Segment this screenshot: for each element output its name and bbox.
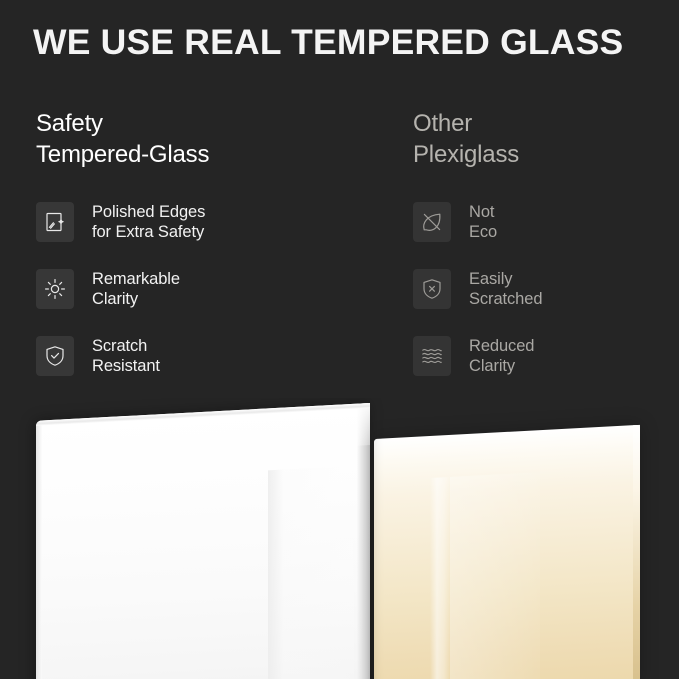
- feature-text: Reduced Clarity: [469, 336, 534, 377]
- feature-row: Easily Scratched: [413, 266, 679, 312]
- plexiglass-right-edge: [633, 425, 640, 679]
- wavy-lines-blur-icon: [413, 336, 451, 376]
- feature-line2: for Extra Safety: [92, 222, 205, 243]
- shield-check-icon: [36, 336, 74, 376]
- feature-text: Scratch Resistant: [92, 336, 160, 377]
- column-plexiglass: Other Plexiglass Not Eco: [413, 108, 679, 379]
- product-comparison-graphic: WE USE REAL TEMPERED GLASS Safety Temper…: [0, 0, 679, 679]
- sun-clarity-icon: [36, 269, 74, 309]
- feature-line2: Clarity: [469, 356, 534, 377]
- plexiglass-panel: [374, 425, 640, 679]
- column-title-plexiglass: Other Plexiglass: [413, 108, 679, 170]
- shield-x-icon: [413, 269, 451, 309]
- polished-edge-sparkle-icon: [36, 202, 74, 242]
- feature-row: Not Eco: [413, 199, 679, 245]
- feature-line1: Not: [469, 203, 494, 221]
- column-tempered-glass: Safety Tempered-Glass Polished Edges for…: [36, 108, 386, 379]
- plexiglass-reflection-wide: [450, 472, 540, 679]
- feature-row: Reduced Clarity: [413, 333, 679, 379]
- column-title-tempered-glass: Safety Tempered-Glass: [36, 108, 386, 170]
- feature-text: Not Eco: [469, 202, 497, 243]
- glass-reflection: [268, 466, 354, 679]
- product-photo: [0, 398, 679, 679]
- feature-line2: Clarity: [92, 289, 180, 310]
- feature-line1: Remarkable: [92, 270, 180, 288]
- leaf-crossed-out-icon: [413, 202, 451, 242]
- feature-list-tempered-glass: Polished Edges for Extra Safety: [36, 199, 386, 379]
- feature-text: Easily Scratched: [469, 269, 542, 310]
- feature-text: Remarkable Clarity: [92, 269, 180, 310]
- column-title-line2: Tempered-Glass: [36, 139, 386, 170]
- glass-top-bevel: [36, 403, 370, 426]
- glass-edge-highlight: [357, 403, 370, 446]
- feature-row: Remarkable Clarity: [36, 266, 386, 312]
- feature-line2: Scratched: [469, 289, 542, 310]
- feature-line1: Easily: [469, 270, 512, 288]
- feature-row: Scratch Resistant: [36, 333, 386, 379]
- glass-left-edge: [36, 420, 42, 679]
- feature-text: Polished Edges for Extra Safety: [92, 202, 205, 243]
- feature-row: Polished Edges for Extra Safety: [36, 199, 386, 245]
- feature-line1: Polished Edges: [92, 203, 205, 221]
- page-title: WE USE REAL TEMPERED GLASS: [33, 20, 653, 64]
- column-title-line1: Other: [413, 110, 472, 137]
- column-title-line2: Plexiglass: [413, 139, 679, 170]
- column-title-line1: Safety: [36, 110, 103, 137]
- feature-list-plexiglass: Not Eco Easily Scratched: [413, 199, 679, 379]
- feature-line2: Eco: [469, 222, 497, 243]
- plexiglass-reflection-stripe: [430, 477, 450, 679]
- feature-line1: Scratch: [92, 337, 147, 355]
- feature-line2: Resistant: [92, 356, 160, 377]
- feature-line1: Reduced: [469, 337, 534, 355]
- tempered-glass-panel: [36, 403, 370, 679]
